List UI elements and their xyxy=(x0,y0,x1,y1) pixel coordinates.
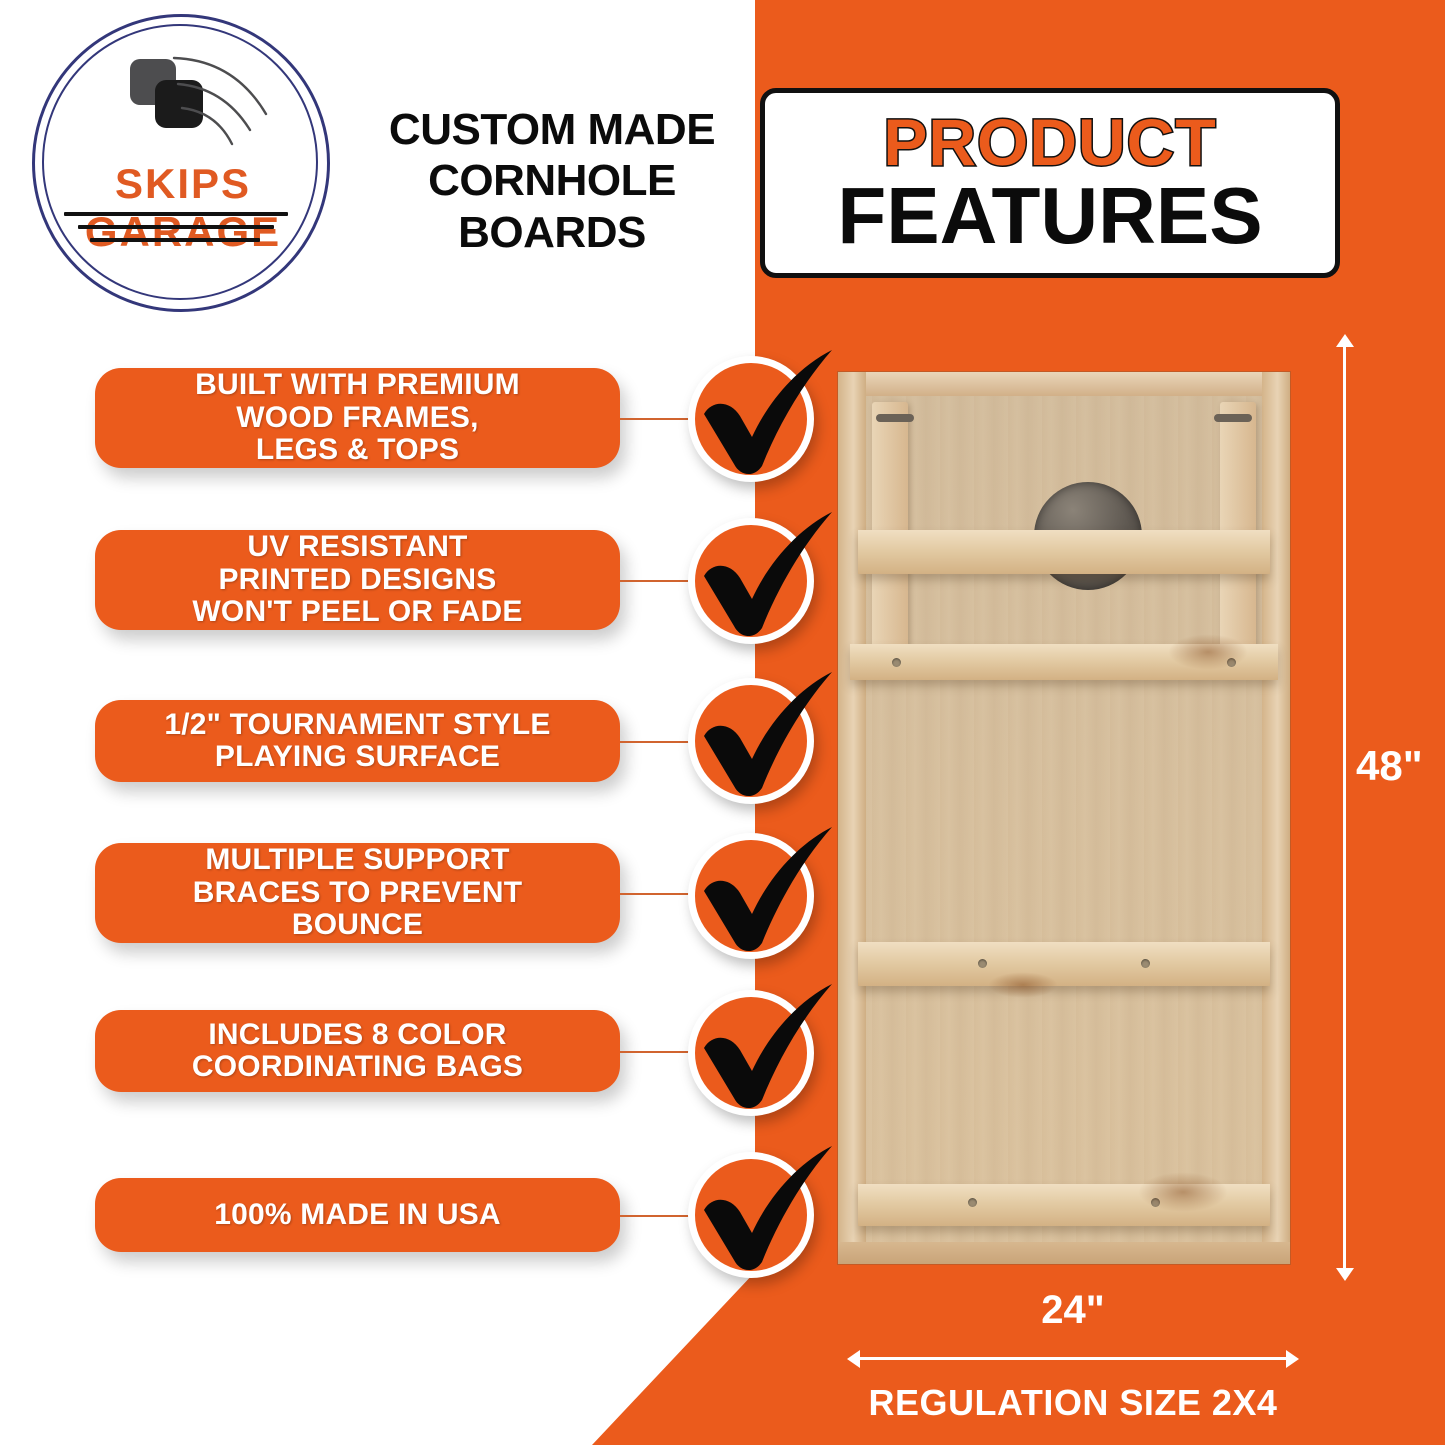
feature-check-badge xyxy=(688,518,814,644)
feature-check-badge xyxy=(688,833,814,959)
feature-pill-line: BOUNCE xyxy=(193,909,523,941)
arrow-left-icon xyxy=(847,1350,860,1368)
feature-pill-text: UV RESISTANTPRINTED DESIGNSWON'T PEEL OR… xyxy=(192,531,522,628)
feature-check-badge xyxy=(688,1152,814,1278)
feature-pill: INCLUDES 8 COLORCOORDINATING BAGS xyxy=(95,1010,620,1092)
height-dimension-label: 48" xyxy=(1356,742,1423,790)
feature-pill-line: INCLUDES 8 COLOR xyxy=(192,1019,523,1051)
feature-pill-line: 100% MADE IN USA xyxy=(214,1199,501,1231)
feature-pill: 100% MADE IN USA xyxy=(95,1178,620,1252)
feature-pill-line: COORDINATING BAGS xyxy=(192,1051,523,1083)
board-frame-left xyxy=(838,372,866,1264)
width-dimension-line xyxy=(858,1357,1288,1360)
feature-pill-text: BUILT WITH PREMIUMWOOD FRAMES,LEGS & TOP… xyxy=(195,369,520,466)
arrow-down-icon xyxy=(1336,1268,1354,1281)
feature-pill-text: INCLUDES 8 COLORCOORDINATING BAGS xyxy=(192,1019,523,1084)
feature-check-badge xyxy=(688,678,814,804)
arrow-right-icon xyxy=(1286,1350,1299,1368)
feature-pill-line: BRACES TO PREVENT xyxy=(193,877,523,909)
feature-pill-line: BUILT WITH PREMIUM xyxy=(195,369,520,401)
wood-knot xyxy=(988,972,1058,998)
feature-pill-line: PRINTED DESIGNS xyxy=(192,564,522,596)
brace-screw xyxy=(978,959,987,968)
feature-pill-text: 1/2" TOURNAMENT STYLEPLAYING SURFACE xyxy=(164,709,550,774)
feature-pill-text: 100% MADE IN USA xyxy=(214,1199,501,1231)
board-support-brace-upper xyxy=(858,530,1270,574)
feature-check-badge xyxy=(688,990,814,1116)
headline-line-1: CUSTOM MADE xyxy=(352,104,752,155)
feature-pill: 1/2" TOURNAMENT STYLEPLAYING SURFACE xyxy=(95,700,620,782)
banner-word-features: FEATURES xyxy=(837,177,1262,255)
banner-word-product: PRODUCT xyxy=(883,110,1216,175)
wood-knot xyxy=(1168,634,1248,670)
wood-knot xyxy=(1138,1172,1228,1212)
feature-pill-line: WOOD FRAMES, xyxy=(195,402,520,434)
board-leg-bolt-left xyxy=(876,414,914,422)
feature-pill-line: LEGS & TOPS xyxy=(195,434,520,466)
feature-pill-line: 1/2" TOURNAMENT STYLE xyxy=(164,709,550,741)
feature-pill-line: UV RESISTANT xyxy=(192,531,522,563)
regulation-size-note: REGULATION SIZE 2X4 xyxy=(838,1382,1308,1424)
brace-screw xyxy=(892,658,901,667)
logo-rule-2 xyxy=(78,225,274,229)
feature-pill: UV RESISTANTPRINTED DESIGNSWON'T PEEL OR… xyxy=(95,530,620,630)
brace-screw xyxy=(1141,959,1150,968)
brand-logo: SKIPS GARAGE xyxy=(22,12,344,312)
logo-rule-1 xyxy=(64,212,288,216)
motion-arcs-icon xyxy=(172,52,282,152)
page-headline: CUSTOM MADE CORNHOLE BOARDS xyxy=(352,104,752,258)
arrow-up-icon xyxy=(1336,334,1354,347)
feature-pill-line: MULTIPLE SUPPORT xyxy=(193,844,523,876)
feature-pill-line: PLAYING SURFACE xyxy=(164,741,550,773)
headline-line-3: BOARDS xyxy=(352,207,752,258)
feature-pill: MULTIPLE SUPPORTBRACES TO PREVENTBOUNCE xyxy=(95,843,620,943)
board-support-brace-lower xyxy=(858,942,1270,986)
feature-pill-line: WON'T PEEL OR FADE xyxy=(192,596,522,628)
brace-screw xyxy=(968,1198,977,1207)
headline-line-2: CORNHOLE xyxy=(352,155,752,206)
feature-pill-text: MULTIPLE SUPPORTBRACES TO PREVENTBOUNCE xyxy=(193,844,523,941)
infographic-page: SKIPS GARAGE CUSTOM MADE CORNHOLE BOARDS… xyxy=(0,0,1445,1445)
board-frame-bottom xyxy=(838,1242,1290,1264)
board-leg-bolt-right xyxy=(1214,414,1252,422)
board-leg-left xyxy=(872,402,908,652)
width-dimension-label: 24" xyxy=(858,1288,1288,1333)
feature-pill: BUILT WITH PREMIUMWOOD FRAMES,LEGS & TOP… xyxy=(95,368,620,468)
board-frame-right xyxy=(1262,372,1290,1264)
cornhole-board-photo xyxy=(838,372,1290,1264)
product-features-banner: PRODUCT FEATURES xyxy=(760,88,1340,278)
board-leg-right xyxy=(1220,402,1256,652)
height-dimension-line xyxy=(1343,345,1346,1270)
board-frame-top xyxy=(838,372,1290,396)
logo-rule-3 xyxy=(90,238,260,242)
feature-check-badge xyxy=(688,356,814,482)
